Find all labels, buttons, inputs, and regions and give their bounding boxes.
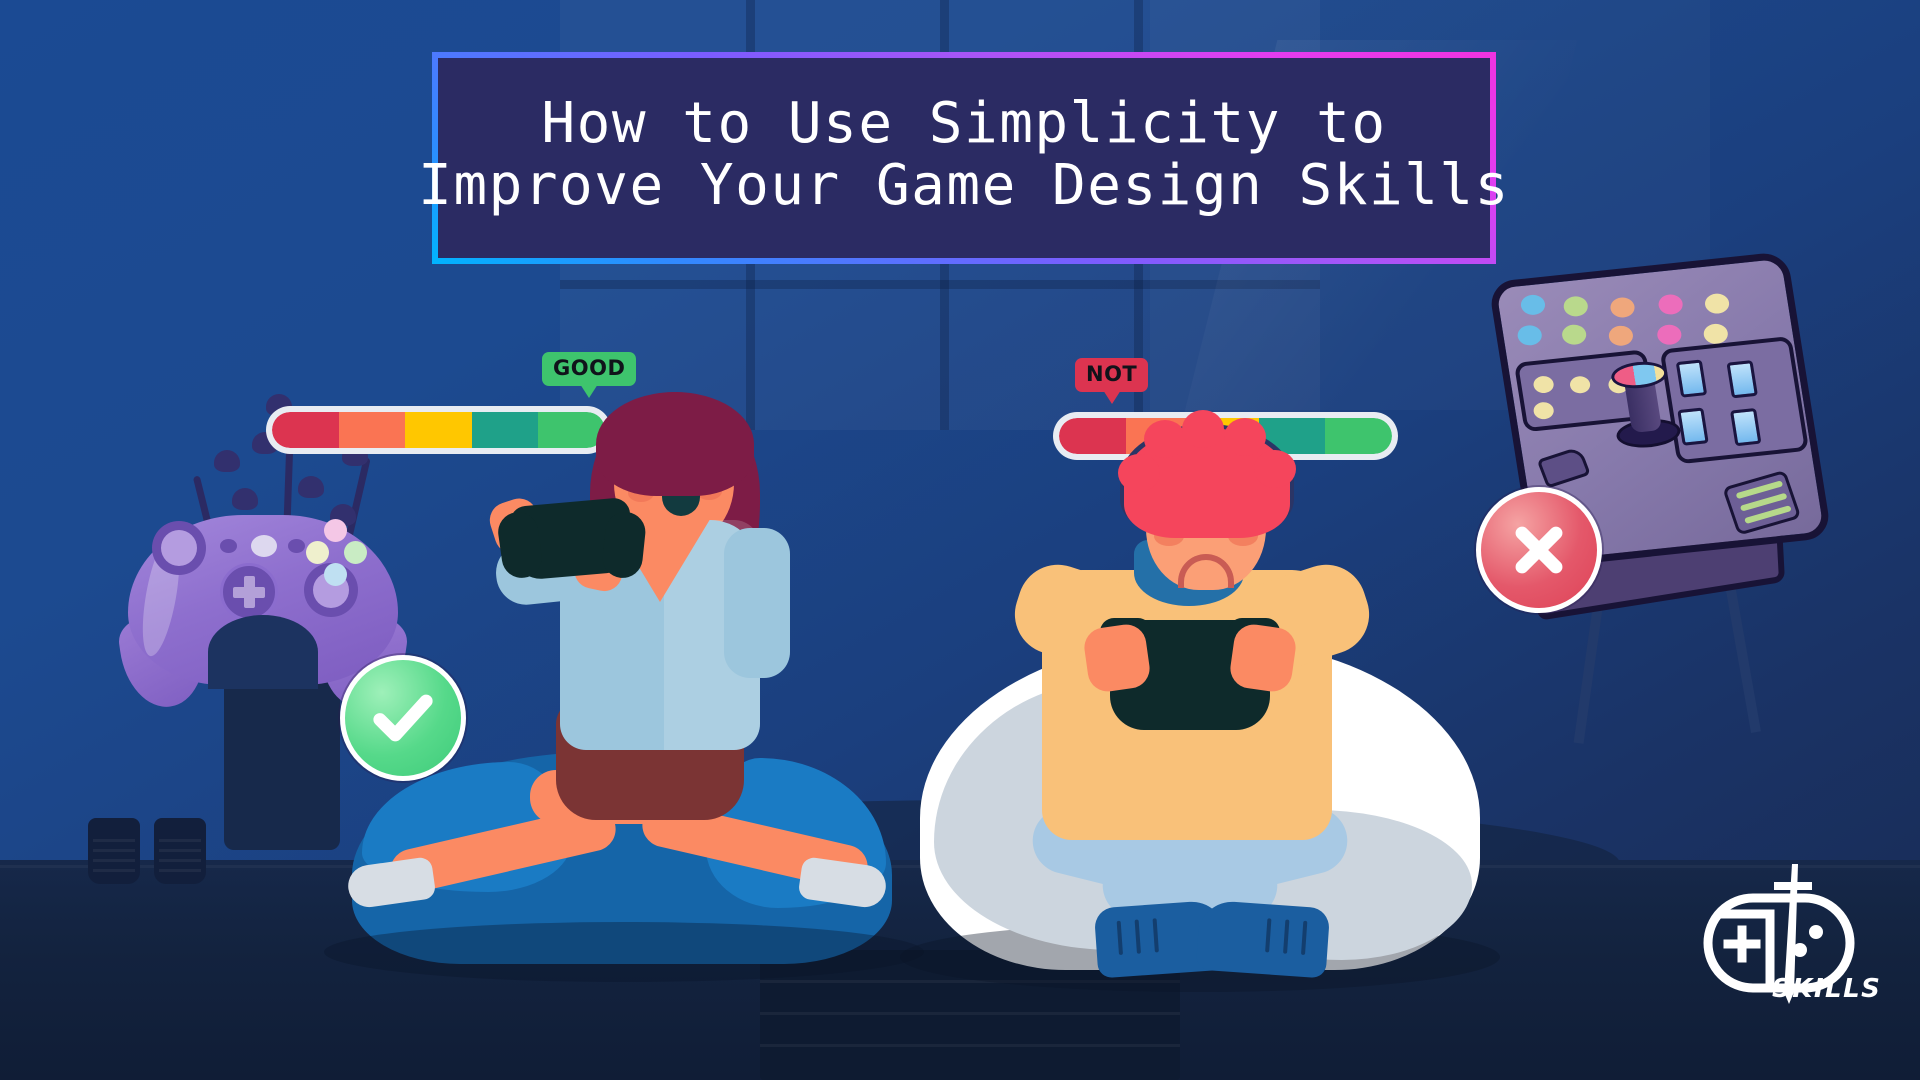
slider-bank-icon <box>1722 470 1801 536</box>
cross-icon <box>1502 513 1576 587</box>
man-shoe-right <box>1196 900 1331 979</box>
checkmark-icon <box>366 681 440 755</box>
status-check-badge <box>340 655 466 781</box>
gamepad-sword-logo-icon <box>1692 862 1868 1034</box>
badge-tail-icon <box>580 384 598 398</box>
meter-segments-good <box>272 412 605 448</box>
man-hair <box>1124 428 1290 538</box>
logo-wordmark: SKILLS <box>1772 974 1881 1004</box>
brand-logo[interactable]: SKILLS <box>1692 862 1868 1034</box>
woman-hair-front <box>596 392 754 496</box>
badge-label-good: GOOD <box>553 356 625 380</box>
man-hand-right <box>1228 622 1298 694</box>
purple-gamepad <box>128 515 398 685</box>
progress-meter-good[interactable] <box>266 406 611 454</box>
status-cross-badge <box>1476 487 1602 613</box>
background-shoes <box>88 814 212 884</box>
status-badge-good: GOOD <box>542 352 636 386</box>
title-banner: How to Use Simplicity to Improve Your Ga… <box>432 52 1496 264</box>
badge-tail-icon <box>1103 390 1121 404</box>
man-hand-left <box>1082 622 1152 694</box>
title-box: How to Use Simplicity to Improve Your Ga… <box>438 58 1490 258</box>
poster-canvas: How to Use Simplicity to Improve Your Ga… <box>0 0 1920 1080</box>
lever-icon <box>1537 446 1591 488</box>
dpad-icon <box>220 563 278 621</box>
status-badge-not: NOT <box>1075 358 1148 392</box>
badge-label-not: NOT <box>1086 362 1137 386</box>
page-title-line2: Improve Your Game Design Skills <box>418 155 1510 217</box>
page-title-line1: How to Use Simplicity to <box>541 93 1386 155</box>
